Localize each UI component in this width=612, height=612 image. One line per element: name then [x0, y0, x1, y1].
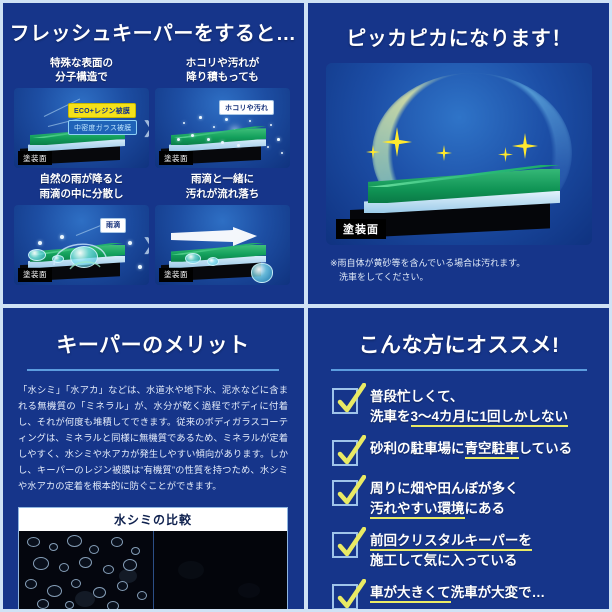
water-spot: [59, 563, 69, 572]
panel-result-title: ピッカピカになります！: [306, 0, 612, 51]
step-2-illustration: ホコリや汚れ: [155, 88, 290, 168]
tag-dust-and-dirt: ホコリや汚れ: [219, 100, 274, 115]
rain-dot: [128, 241, 132, 245]
checklist-line-2: 洗車を3〜4カ月に1回しかしない: [370, 407, 568, 427]
water-spot: [27, 537, 40, 547]
checklist-item: 普段忙しくて、 洗車を3〜4カ月に1回しかしない: [332, 387, 596, 426]
step-2-caption: ホコリや汚れが 降り積もっても: [155, 56, 290, 84]
tag-paint-surface: 塗装面: [336, 219, 386, 239]
comparison-image-keeper: [154, 531, 288, 612]
check-icon: [332, 388, 358, 414]
water-droplet: [207, 257, 219, 266]
panel-merit: キーパーのメリット 「水シミ」「水アカ」などは、水道水や地下水、泥水などに含まれ…: [0, 306, 306, 612]
checklist-line-2: 車が大きくて洗車が大変で…: [370, 583, 545, 603]
water-spot-faint: [238, 583, 260, 598]
checklist-line-2: 砂利の駐車場に青空駐車している: [370, 439, 572, 459]
check-icon: [332, 532, 358, 558]
process-step-2: ホコリや汚れが 降り積もっても ホコリや汚れ: [155, 56, 290, 168]
dust-dot: [281, 152, 283, 154]
water-spot: [137, 591, 147, 600]
water-droplet: [185, 253, 201, 264]
panel-process: フレッシュキーパーをすると… 特殊な表面の 分子構造で ECO+レジン被膜 中密…: [0, 0, 306, 306]
merit-body-text: 「水シミ」「水アカ」などは、水道水や地下水、泥水などに含まれる無機質の「ミネラル…: [0, 371, 306, 495]
comparison-image-conventional: [19, 531, 154, 612]
water-droplet: [28, 249, 46, 261]
shine-illustration: 塗装面: [326, 63, 592, 245]
check-icon: [332, 584, 358, 610]
dust-dot: [249, 120, 251, 122]
panel-divider-horizontal: [0, 304, 612, 308]
step-4-caption: 雨滴と一緒に 汚れが流れ落ち: [155, 172, 290, 200]
tag-paint-surface: 塗装面: [159, 268, 193, 282]
step-3-caption: 自然の雨が降ると 雨滴の中に分散し: [14, 172, 149, 200]
infographic-page: フレッシュキーパーをすると… 特殊な表面の 分子構造で ECO+レジン被膜 中密…: [0, 0, 612, 612]
water-spot: [89, 545, 99, 554]
water-spot: [93, 587, 106, 598]
tag-eco-resin-film: ECO+レジン被膜: [68, 103, 136, 118]
water-spot-faint: [178, 561, 204, 579]
checklist-item-text: 砂利の駐車場に青空駐車している: [370, 439, 572, 459]
process-step-3: 自然の雨が降ると 雨滴の中に分散し 雨滴: [14, 172, 149, 284]
water-spot-faint: [75, 591, 95, 607]
check-icon: [332, 440, 358, 466]
checklist-item: 周りに畑や田んぼが多く 汚れやすい環境にある: [332, 479, 596, 518]
panel-recommend: こんな方にオススメ! 普段忙しくて、 洗車を3〜4カ月に1回しかしない 砂利の駐…: [306, 306, 612, 612]
water-spot: [47, 585, 62, 597]
water-spot: [33, 557, 49, 570]
checklist-line-1: 周りに畑や田んぼが多く: [370, 479, 519, 499]
water-spot: [107, 601, 119, 611]
checklist-item: 車が大きくて洗車が大変で…: [332, 583, 596, 610]
tag-paint-surface: 塗装面: [18, 151, 52, 165]
dust-dot: [225, 118, 228, 121]
comparison-images: [19, 531, 287, 612]
water-spot: [25, 579, 37, 589]
comparison-figure: 水シミの比較: [18, 507, 288, 612]
panel-result: ピッカピカになります！ 塗装面 ※雨自体が黄砂等を含んでいる場合は汚れます。 洗…: [306, 0, 612, 306]
chevron-right-icon: ❯: [142, 235, 149, 255]
checklist-line-2: 施工して気に入っている: [370, 551, 532, 571]
checklist-item-text: 普段忙しくて、 洗車を3〜4カ月に1回しかしない: [370, 387, 568, 426]
chevron-right-icon: ❯: [142, 118, 149, 138]
water-droplet-falling: [251, 263, 273, 283]
checklist-item: 前回クリスタルキーパーを 施工して気に入っている: [332, 531, 596, 570]
process-step-1: 特殊な表面の 分子構造で ECO+レジン被膜 中密度ガラス被膜 塗装面: [14, 56, 149, 168]
water-spot: [37, 599, 49, 609]
rain-dot: [138, 265, 142, 269]
flow-arrow-icon: [171, 227, 257, 247]
water-spot: [71, 579, 81, 588]
step-4-illustration: 塗装面 ❯: [155, 205, 290, 285]
checklist-item-text: 前回クリスタルキーパーを 施工して気に入っている: [370, 531, 532, 570]
checklist-line-1: 普段忙しくて、: [370, 387, 568, 407]
panel-recommend-title: こんな方にオススメ!: [306, 306, 612, 359]
chevron-right-icon: ❯: [288, 118, 290, 138]
tag-paint-surface: 塗装面: [159, 151, 193, 165]
water-spot: [111, 537, 123, 547]
tag-paint-surface: 塗装面: [18, 268, 52, 282]
check-icon: [332, 480, 358, 506]
water-spot: [131, 547, 140, 555]
water-spot: [67, 535, 82, 547]
result-note: ※雨自体が黄砂等を含んでいる場合は汚れます。 洗車をしてください。: [306, 245, 612, 285]
water-spot: [65, 601, 74, 609]
process-step-grid: 特殊な表面の 分子構造で ECO+レジン被膜 中密度ガラス被膜 塗装面: [0, 46, 306, 285]
checklist-item-text: 周りに畑や田んぼが多く 汚れやすい環境にある: [370, 479, 519, 518]
process-step-4: 雨滴と一緒に 汚れが流れ落ち: [155, 172, 290, 284]
step-3-illustration: 雨滴: [14, 205, 149, 285]
water-spot: [49, 543, 58, 551]
dispersion-arc: [48, 231, 112, 271]
checklist-item-text: 車が大きくて洗車が大変で…: [370, 583, 545, 603]
step-1-caption: 特殊な表面の 分子構造で: [14, 56, 149, 84]
dust-dot: [267, 146, 269, 148]
recommend-checklist: 普段忙しくて、 洗車を3〜4カ月に1回しかしない 砂利の駐車場に青空駐車している…: [306, 371, 612, 610]
dust-dot: [277, 138, 280, 141]
tag-medium-density-glass-film: 中密度ガラス被膜: [68, 120, 137, 135]
checklist-item: 砂利の駐車場に青空駐車している: [332, 439, 596, 466]
comparison-title: 水シミの比較: [19, 508, 287, 531]
chevron-right-icon: ❯: [288, 235, 290, 255]
checklist-line-2: 汚れやすい環境にある: [370, 499, 519, 519]
dust-dot: [199, 116, 202, 119]
water-spot-faint: [119, 569, 137, 583]
dust-dot: [270, 124, 272, 126]
result-note-line-1: ※雨自体が黄砂等を含んでいる場合は汚れます。: [330, 258, 525, 268]
tag-raindrop: 雨滴: [100, 218, 126, 233]
checklist-line-1: 前回クリスタルキーパーを: [370, 531, 532, 551]
result-note-line-2: 洗車をしてください。: [330, 271, 590, 285]
water-spot: [79, 557, 92, 568]
water-spot: [103, 565, 114, 574]
panel-merit-title: キーパーのメリット: [0, 306, 306, 359]
panel-process-title: フレッシュキーパーをすると…: [0, 0, 306, 46]
step-1-illustration: ECO+レジン被膜 中密度ガラス被膜 塗装面 ❯: [14, 88, 149, 168]
